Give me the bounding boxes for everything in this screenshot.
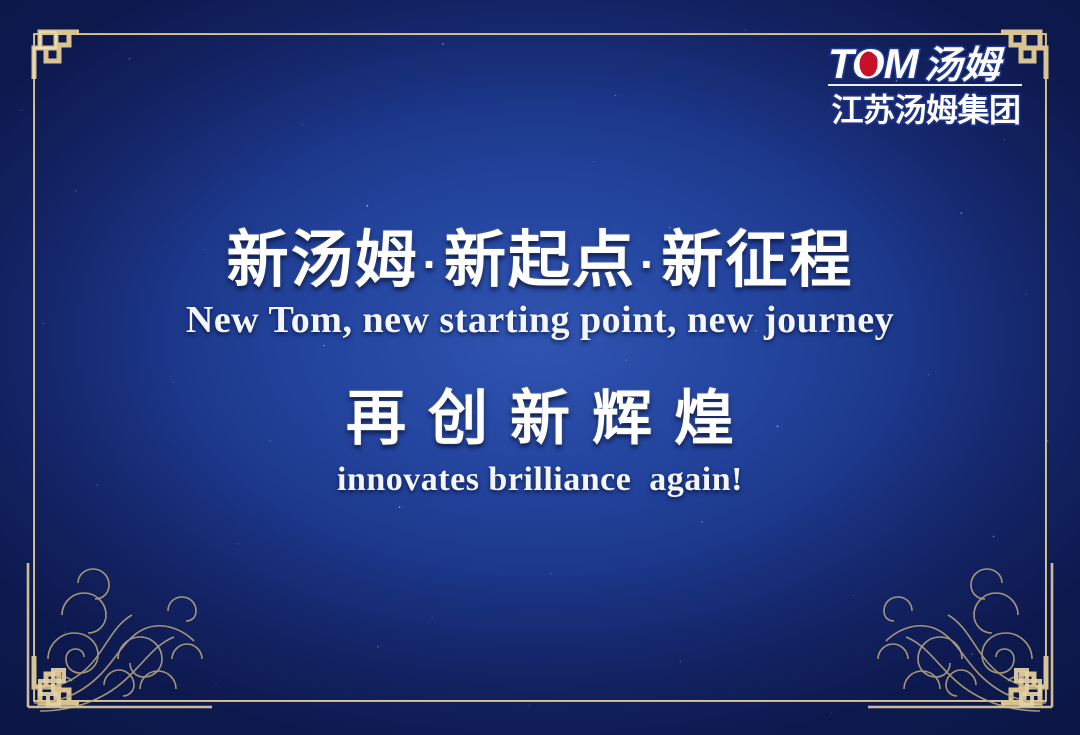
headline-segment-c: 新征程	[661, 226, 853, 295]
headline-english-primary: New Tom, new starting point, new journey	[0, 299, 1080, 343]
headline-separator-dot: ·	[419, 238, 444, 290]
headline-chinese-secondary: 再创新辉煌	[0, 387, 1080, 450]
logo-company-name-icon: 江苏汤姆集团	[828, 90, 1024, 130]
headline-segment-a: 新汤姆	[227, 226, 419, 295]
poster-canvas: TOM 汤姆 江苏汤姆集团 TOM 汤姆 江苏汤姆集团 新汤姆·新起点·新征程 …	[0, 0, 1080, 735]
company-logo[interactable]: TOM 汤姆 江苏汤姆集团 TOM 汤姆 江苏汤姆集团	[828, 42, 1024, 130]
logo-wordmark-icon: TOM 汤姆	[828, 42, 1024, 88]
svg-text:汤姆: 汤姆	[924, 45, 1005, 87]
cloud-scroll-ornament-icon	[22, 563, 212, 713]
headline-english-secondary: innovates brilliance again!	[0, 460, 1080, 499]
chinese-knot-icon	[1000, 655, 1062, 717]
headline-segment-b: 新起点	[444, 226, 636, 295]
cloud-scroll-ornament-icon	[868, 563, 1058, 713]
poster-content: 新汤姆·新起点·新征程 New Tom, new starting point,…	[0, 228, 1080, 499]
headline-separator-dot: ·	[636, 238, 661, 290]
headline-chinese-primary: 新汤姆·新起点·新征程	[0, 228, 1080, 293]
chinese-knot-icon	[18, 18, 80, 80]
svg-text:江苏汤姆集团: 江苏汤姆集团	[831, 92, 1020, 128]
chinese-knot-icon	[18, 655, 80, 717]
